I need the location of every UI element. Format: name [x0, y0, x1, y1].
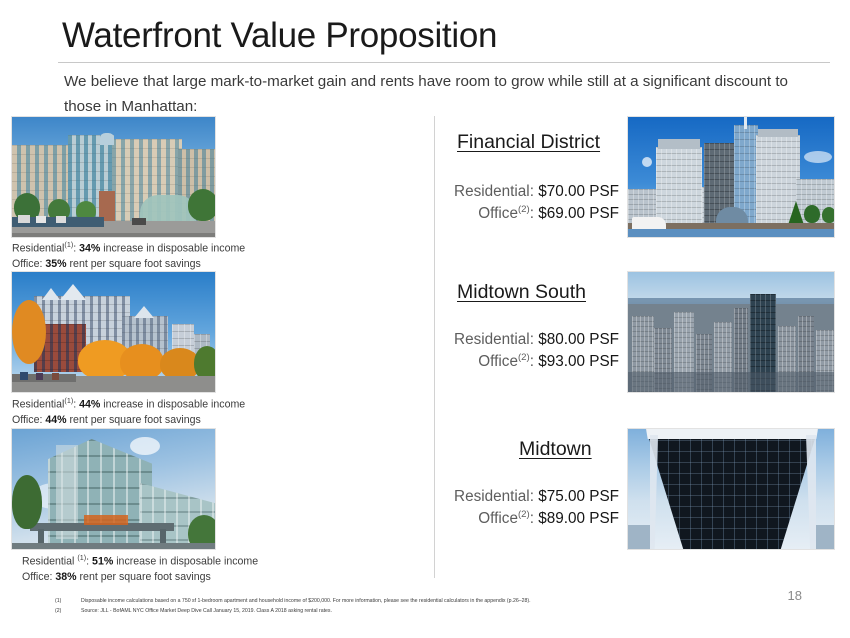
financial-district-heading: Financial District: [435, 131, 600, 154]
ms-office-value: $93.00 PSF: [538, 353, 619, 370]
pi-stat-office: Office: 38% rent per square foot savings: [22, 570, 258, 586]
footnote-text: Source: JLL - BofAML NYC Office Market D…: [81, 606, 755, 616]
hoboken-111-river-building-photo: [11, 271, 216, 393]
stat-off-prefix: Office:: [12, 258, 45, 270]
mt-residential-label: Residential:: [454, 488, 534, 505]
mt-office-value: $89.00 PSF: [538, 510, 619, 527]
stat-off-prefix: Office:: [12, 414, 45, 426]
stat-res-prefix: Residential: [12, 399, 64, 411]
page-number: 18: [788, 588, 802, 603]
stat-off-prefix: Office:: [22, 571, 55, 583]
title-divider: [58, 62, 830, 63]
ms-residential-row: Residential: $80.00 PSF: [435, 329, 619, 351]
stat-off-pct: 38%: [55, 571, 76, 583]
harborside-stats: Residential(1): 34% increase in disposab…: [12, 240, 245, 273]
harborside-stat-residential: Residential(1): 34% increase in disposab…: [12, 240, 245, 257]
stat-off-suffix: rent per square foot savings: [67, 414, 201, 426]
fd-office-colon: :: [530, 205, 534, 222]
ms-residential-label: Residential:: [454, 331, 534, 348]
stat-res-prefix: Residential: [12, 243, 64, 255]
stat-res-pct: 44%: [79, 399, 100, 411]
stat-res-prefix: Residential: [22, 556, 77, 568]
mt-residential-row: Residential: $75.00 PSF: [435, 486, 619, 508]
stat-res-sup: (1): [64, 240, 73, 249]
stat-off-suffix: rent per square foot savings: [67, 258, 201, 270]
stat-res-suffix: increase in disposable income: [113, 556, 258, 568]
mt-residential-value: $75.00 PSF: [538, 488, 619, 505]
stat-off-suffix: rent per square foot savings: [77, 571, 211, 583]
midtown-heading: Midtown: [435, 438, 592, 461]
stat-off-pct: 44%: [45, 414, 66, 426]
footnote-text: Disposable income calculations based on …: [81, 596, 755, 606]
stat-res-sup: (1): [64, 396, 73, 405]
ms-residential-value: $80.00 PSF: [538, 331, 619, 348]
fd-office-label: Office: [478, 205, 518, 222]
midtown-south-heading: Midtown South: [435, 281, 586, 304]
mt-office-row: Office(2): $89.00 PSF: [435, 508, 619, 530]
footnote-marker: (1): [55, 596, 81, 606]
midtown-south-aerial-photo: [627, 271, 835, 393]
page-title-wrapper: Waterfront Value Proposition: [62, 16, 832, 55]
fd-office-value: $69.00 PSF: [538, 205, 619, 222]
port-imperial-stats: Residential (1): 51% increase in disposa…: [22, 553, 258, 586]
stat-res-pct: 34%: [79, 243, 100, 255]
ms-office-label: Office: [478, 353, 518, 370]
page-title: Waterfront Value Proposition: [62, 16, 832, 55]
ms-office-row: Office(2): $93.00 PSF: [435, 351, 619, 373]
financial-district-skyline-photo: [627, 116, 835, 238]
midtown-prices: Residential: $75.00 PSF Office(2): $89.0…: [435, 486, 619, 530]
midtown-south-prices: Residential: $80.00 PSF Office(2): $93.0…: [435, 329, 619, 373]
fd-office-sup: (2): [518, 204, 530, 215]
ms-office-colon: :: [530, 353, 534, 370]
pi-stat-residential: Residential (1): 51% increase in disposa…: [22, 553, 258, 570]
stat-res-suffix: increase in disposable income: [100, 243, 245, 255]
mt-office-label: Office: [478, 510, 518, 527]
hoboken-stat-office: Office: 44% rent per square foot savings: [12, 413, 245, 429]
subtitle-text: We believe that large mark-to-market gai…: [64, 70, 812, 119]
slide-root: Waterfront Value Proposition We believe …: [0, 0, 850, 638]
fd-residential-label: Residential:: [454, 183, 534, 200]
footnote-row: (1) Disposable income calculations based…: [55, 596, 755, 606]
fd-residential-value: $70.00 PSF: [538, 183, 619, 200]
stat-off-pct: 35%: [45, 258, 66, 270]
fd-residential-row: Residential: $70.00 PSF: [435, 181, 619, 203]
mt-office-colon: :: [530, 510, 534, 527]
hoboken-stats: Residential(1): 44% increase in disposab…: [12, 396, 245, 429]
stat-res-pct: 51%: [92, 556, 113, 568]
footnote-marker: (2): [55, 606, 81, 616]
stat-res-sup: (1): [77, 553, 86, 562]
mt-office-sup: (2): [518, 509, 530, 520]
footnote-row: (2) Source: JLL - BofAML NYC Office Mark…: [55, 606, 755, 616]
footnotes: (1) Disposable income calculations based…: [55, 596, 755, 616]
financial-district-prices: Residential: $70.00 PSF Office(2): $69.0…: [435, 181, 619, 225]
midtown-tower-photo: [627, 428, 835, 550]
harborside-building-photo: [11, 116, 216, 238]
port-imperial-glass-building-photo: [11, 428, 216, 550]
fd-office-row: Office(2): $69.00 PSF: [435, 203, 619, 225]
hoboken-stat-residential: Residential(1): 44% increase in disposab…: [12, 396, 245, 413]
ms-office-sup: (2): [518, 352, 530, 363]
stat-res-suffix: increase in disposable income: [100, 399, 245, 411]
